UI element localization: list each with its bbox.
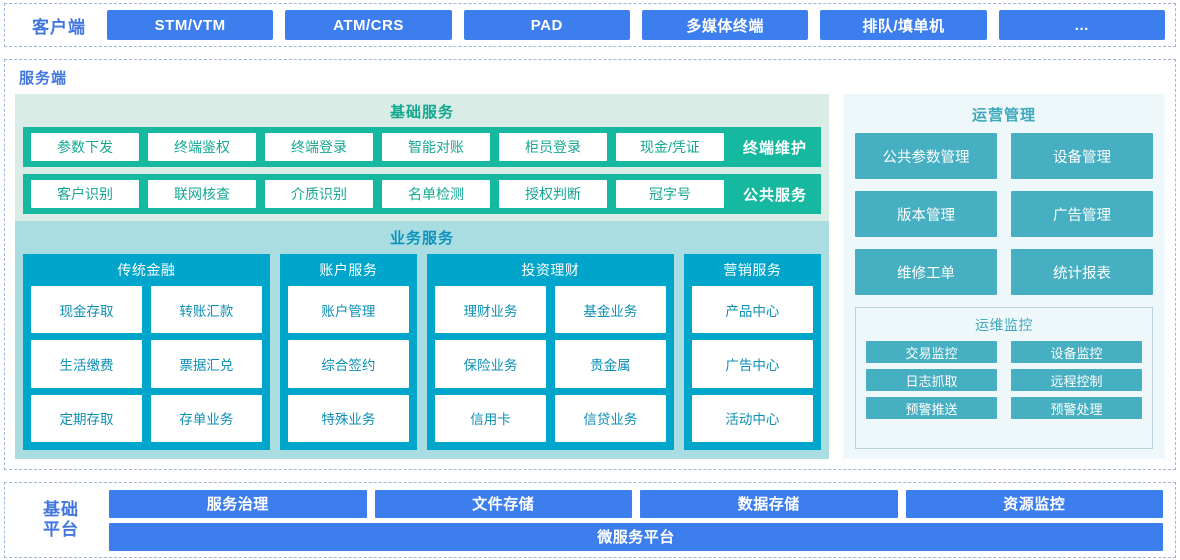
- server-section-label: 服务端: [19, 67, 1165, 88]
- service-chip-terminal-auth[interactable]: 终端鉴权: [148, 133, 256, 161]
- business-group-investment-wealth: 投资理财 理财业务 基金业务 保险业务 贵金属 信用卡 信贷业务: [427, 254, 674, 450]
- business-services-title: 业务服务: [23, 223, 821, 254]
- business-group-items-account-services: 账户管理 综合签约 特殊业务: [288, 286, 409, 442]
- service-chip-cash-voucher[interactable]: 现金/凭证: [616, 133, 724, 161]
- business-group-title-investment-wealth: 投资理财: [435, 258, 666, 286]
- ops-chip-advertising-management[interactable]: 广告管理: [1011, 191, 1153, 237]
- client-terminal-queue-form[interactable]: 排队/填单机: [820, 10, 986, 40]
- business-group-title-account-services: 账户服务: [288, 258, 409, 286]
- service-chip-list-check[interactable]: 名单检测: [382, 180, 490, 208]
- basic-services-title: 基础服务: [23, 98, 821, 127]
- platform-section-label: 基础 平台: [13, 500, 109, 539]
- business-services-panel: 业务服务 传统金融 现金存取 转账汇款 生活缴费 票据汇兑 定期存取 存单业务: [15, 221, 829, 459]
- service-chip-media-recognition[interactable]: 介质识别: [265, 180, 373, 208]
- business-chip-loan-business[interactable]: 信贷业务: [555, 395, 666, 442]
- business-chip-advertising-center[interactable]: 广告中心: [692, 340, 813, 387]
- architecture-diagram: 客户端 STM/VTM ATM/CRS PAD 多媒体终端 排队/填单机 ...…: [0, 0, 1180, 560]
- server-section: 服务端 基础服务 参数下发 终端鉴权 终端登录 智能对账 柜员登录 现金/凭证 …: [4, 59, 1176, 470]
- business-chip-credit-card[interactable]: 信用卡: [435, 395, 546, 442]
- business-chip-fund-business[interactable]: 基金业务: [555, 286, 666, 333]
- client-terminal-pad[interactable]: PAD: [464, 10, 630, 40]
- business-services-groups: 传统金融 现金存取 转账汇款 生活缴费 票据汇兑 定期存取 存单业务: [23, 254, 821, 450]
- business-chip-certificate-deposit[interactable]: 存单业务: [151, 395, 262, 442]
- business-chip-wealth-management[interactable]: 理财业务: [435, 286, 546, 333]
- monitor-chip-remote-control[interactable]: 远程控制: [1011, 369, 1142, 391]
- basic-services-row-tag-terminal-maintenance: 终端维护: [733, 137, 813, 158]
- ops-chip-statistical-report[interactable]: 统计报表: [1011, 249, 1153, 295]
- business-chip-comprehensive-signing[interactable]: 综合签约: [288, 340, 409, 387]
- business-chip-precious-metals[interactable]: 贵金属: [555, 340, 666, 387]
- server-body: 基础服务 参数下发 终端鉴权 终端登录 智能对账 柜员登录 现金/凭证 终端维护…: [15, 94, 1165, 459]
- monitor-chip-alert-push[interactable]: 预警推送: [866, 397, 997, 419]
- ops-chip-device-management[interactable]: 设备管理: [1011, 133, 1153, 179]
- business-group-items-traditional-finance: 现金存取 转账汇款 生活缴费 票据汇兑 定期存取 存单业务: [31, 286, 262, 442]
- service-chip-terminal-login[interactable]: 终端登录: [265, 133, 373, 161]
- operations-monitoring-title: 运维监控: [866, 312, 1142, 341]
- platform-label-line1: 基础: [13, 500, 109, 520]
- business-group-items-investment-wealth: 理财业务 基金业务 保险业务 贵金属 信用卡 信贷业务: [435, 286, 666, 442]
- operations-management-panel: 运营管理 公共参数管理 设备管理 版本管理 广告管理 维修工单 统计报表 运维监…: [843, 94, 1165, 459]
- client-terminal-list: STM/VTM ATM/CRS PAD 多媒体终端 排队/填单机 ...: [107, 10, 1169, 40]
- client-terminal-stm-vtm[interactable]: STM/VTM: [107, 10, 273, 40]
- operations-management-items: 公共参数管理 设备管理 版本管理 广告管理 维修工单 统计报表: [855, 133, 1153, 295]
- platform-chip-file-storage[interactable]: 文件存储: [375, 490, 633, 518]
- platform-top-row: 服务治理 文件存储 数据存储 资源监控: [109, 490, 1163, 518]
- monitor-chip-device-monitoring[interactable]: 设备监控: [1011, 341, 1142, 363]
- business-group-account-services: 账户服务 账户管理 综合签约 特殊业务: [280, 254, 417, 450]
- platform-chip-service-governance[interactable]: 服务治理: [109, 490, 367, 518]
- platform-chip-resource-monitoring[interactable]: 资源监控: [906, 490, 1164, 518]
- monitor-chip-log-capture[interactable]: 日志抓取: [866, 369, 997, 391]
- platform-bottom-row: 微服务平台: [109, 523, 1163, 551]
- business-group-title-traditional-finance: 传统金融: [31, 258, 262, 286]
- business-group-title-marketing-services: 营销服务: [692, 258, 813, 286]
- business-chip-utility-payment[interactable]: 生活缴费: [31, 340, 142, 387]
- business-chip-campaign-center[interactable]: 活动中心: [692, 395, 813, 442]
- monitor-chip-transaction-monitoring[interactable]: 交易监控: [866, 341, 997, 363]
- ops-chip-version-management[interactable]: 版本管理: [855, 191, 997, 237]
- operations-management-title: 运营管理: [855, 100, 1153, 133]
- platform-stack: 服务治理 文件存储 数据存储 资源监控 微服务平台: [109, 490, 1167, 551]
- business-group-marketing-services: 营销服务 产品中心 广告中心 活动中心: [684, 254, 821, 450]
- business-chip-special-business[interactable]: 特殊业务: [288, 395, 409, 442]
- platform-label-line2: 平台: [13, 520, 109, 540]
- service-chip-param-dispatch[interactable]: 参数下发: [31, 133, 139, 161]
- business-group-traditional-finance: 传统金融 现金存取 转账汇款 生活缴费 票据汇兑 定期存取 存单业务: [23, 254, 270, 450]
- server-left-column: 基础服务 参数下发 终端鉴权 终端登录 智能对账 柜员登录 现金/凭证 终端维护…: [15, 94, 829, 459]
- client-terminal-multimedia[interactable]: 多媒体终端: [642, 10, 808, 40]
- client-section-label: 客户端: [11, 13, 107, 38]
- business-chip-product-center[interactable]: 产品中心: [692, 286, 813, 333]
- service-chip-online-verification[interactable]: 联网核查: [148, 180, 256, 208]
- platform-chip-data-storage[interactable]: 数据存储: [640, 490, 898, 518]
- monitor-chip-alert-handling[interactable]: 预警处理: [1011, 397, 1142, 419]
- business-chip-cash-deposit-withdrawal[interactable]: 现金存取: [31, 286, 142, 333]
- client-terminal-more[interactable]: ...: [999, 10, 1165, 40]
- operations-monitoring-items: 交易监控 设备监控 日志抓取 远程控制 预警推送 预警处理: [866, 341, 1142, 419]
- business-chip-transfer-remittance[interactable]: 转账汇款: [151, 286, 262, 333]
- service-chip-serial-number[interactable]: 冠字号: [616, 180, 724, 208]
- basic-services-row-public-service: 客户识别 联网核查 介质识别 名单检测 授权判断 冠字号 公共服务: [23, 174, 821, 214]
- business-chip-bill-exchange[interactable]: 票据汇兑: [151, 340, 262, 387]
- business-group-items-marketing-services: 产品中心 广告中心 活动中心: [692, 286, 813, 442]
- client-terminal-atm-crs[interactable]: ATM/CRS: [285, 10, 451, 40]
- service-chip-customer-identification[interactable]: 客户识别: [31, 180, 139, 208]
- business-chip-insurance-business[interactable]: 保险业务: [435, 340, 546, 387]
- business-chip-account-management[interactable]: 账户管理: [288, 286, 409, 333]
- service-chip-authorization-judgement[interactable]: 授权判断: [499, 180, 607, 208]
- operations-monitoring-panel: 运维监控 交易监控 设备监控 日志抓取 远程控制 预警推送 预警处理: [855, 307, 1153, 449]
- ops-chip-public-parameter-management[interactable]: 公共参数管理: [855, 133, 997, 179]
- platform-section: 基础 平台 服务治理 文件存储 数据存储 资源监控 微服务平台: [4, 482, 1176, 558]
- service-chip-teller-login[interactable]: 柜员登录: [499, 133, 607, 161]
- ops-chip-repair-work-order[interactable]: 维修工单: [855, 249, 997, 295]
- client-section: 客户端 STM/VTM ATM/CRS PAD 多媒体终端 排队/填单机 ...: [4, 3, 1176, 47]
- basic-services-panel: 基础服务 参数下发 终端鉴权 终端登录 智能对账 柜员登录 现金/凭证 终端维护…: [15, 94, 829, 221]
- basic-services-row-terminal-maintenance: 参数下发 终端鉴权 终端登录 智能对账 柜员登录 现金/凭证 终端维护: [23, 127, 821, 167]
- service-chip-smart-reconciliation[interactable]: 智能对账: [382, 133, 490, 161]
- business-chip-time-deposit[interactable]: 定期存取: [31, 395, 142, 442]
- basic-services-row-tag-public-service: 公共服务: [733, 184, 813, 205]
- platform-chip-microservice-platform[interactable]: 微服务平台: [109, 523, 1163, 551]
